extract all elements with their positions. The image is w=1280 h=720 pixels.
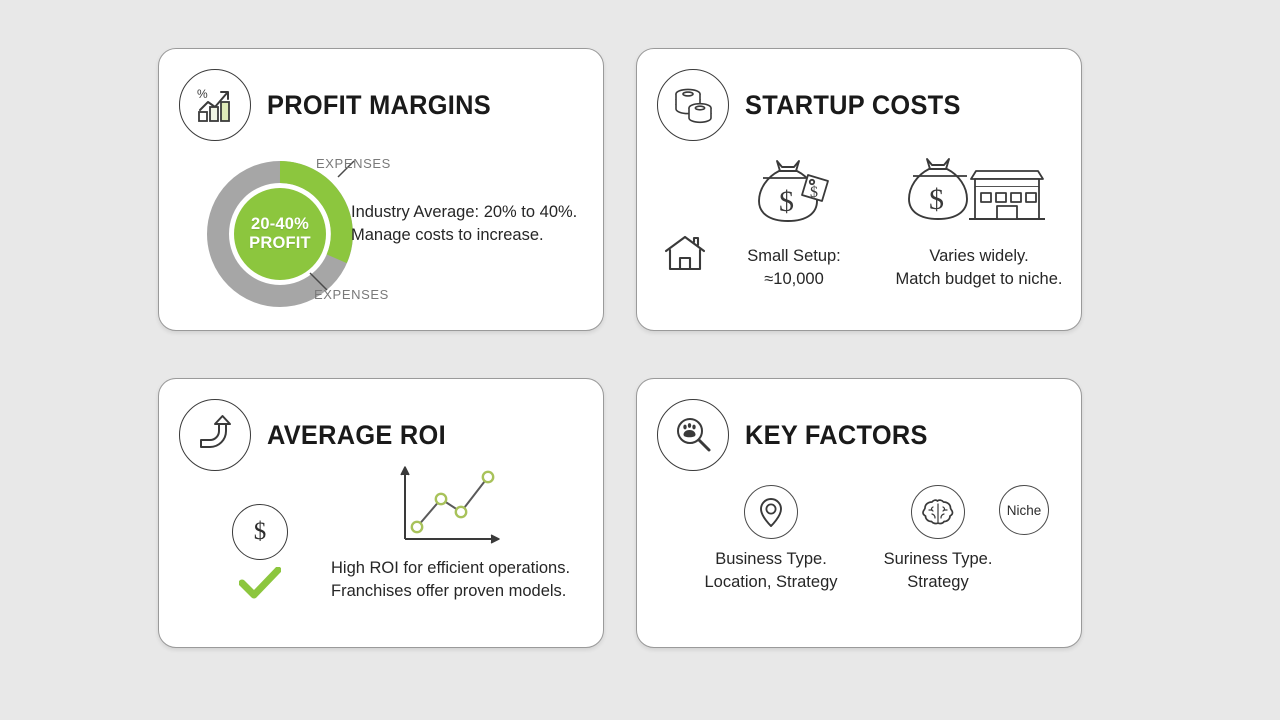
small-setup-line1: Small Setup:	[699, 245, 889, 268]
small-setup-caption: Small Setup: ≈10,000	[699, 245, 889, 291]
card-startup-costs: STARTUP COSTS $ $	[636, 48, 1082, 331]
stacked-coins-icon	[657, 69, 729, 141]
dollar-symbol: $	[254, 518, 267, 546]
niche-label: Niche	[1007, 503, 1042, 518]
profit-note-line2: Manage costs to increase.	[351, 224, 596, 247]
card-header: % PROFIT MARGINS	[179, 69, 505, 141]
card-header: KEY FACTORS	[657, 399, 939, 471]
small-setup-line2: ≈10,000	[699, 268, 889, 291]
card-key-factors: KEY FACTORS Business Type. Location, Str…	[636, 378, 1082, 648]
profit-note: Industry Average: 20% to 40%. Manage cos…	[351, 201, 596, 248]
house-icon	[663, 233, 707, 273]
dollar-circle-icon: $	[232, 504, 288, 560]
factor-business-type: Business Type. Location, Strategy	[665, 485, 877, 594]
svg-text:$: $	[779, 185, 794, 218]
card-average-roi: AVERAGE ROI $	[158, 378, 604, 648]
svg-text:$: $	[810, 184, 818, 201]
donut-callout-top: EXPENSES	[316, 156, 391, 171]
card-title: STARTUP COSTS	[745, 90, 961, 121]
varies-line1: Varies widely.	[879, 245, 1079, 268]
card-title: PROFIT MARGINS	[267, 90, 491, 121]
startup-cost-varies: $ Varies widely. Match	[879, 149, 1079, 291]
profit-note-line1: Industry Average: 20% to 40%.	[351, 201, 596, 224]
roi-note-line1: High ROI for efficient operations.	[331, 557, 591, 580]
roi-note: High ROI for efficient operations. Franc…	[331, 557, 591, 604]
money-bag-with-price-tag-icon: $ $	[699, 149, 889, 237]
card-title: KEY FACTORS	[745, 420, 928, 451]
infographic-canvas: % PROFIT MARGINS	[0, 0, 1280, 720]
percent-growth-chart-icon: %	[179, 69, 251, 141]
magnifier-paw-icon	[657, 399, 729, 471]
roi-line-chart	[393, 461, 509, 547]
card-title: AVERAGE ROI	[267, 420, 446, 451]
donut-callout-bottom: EXPENSES	[314, 287, 389, 302]
brain-icon	[911, 485, 965, 539]
curved-up-arrow-icon	[179, 399, 251, 471]
factor-niche: Niche	[978, 485, 1070, 535]
money-bag-and-storefront-icon: $	[879, 149, 1079, 237]
card-header: STARTUP COSTS	[657, 69, 974, 141]
svg-text:$: $	[929, 183, 944, 216]
card-profit-margins: % PROFIT MARGINS	[158, 48, 604, 331]
varies-caption: Varies widely. Match budget to niche.	[879, 245, 1079, 291]
location-pin-icon	[744, 485, 798, 539]
factor-business-caption: Business Type. Location, Strategy	[665, 548, 877, 594]
factor-brain-caption: Suriness Type. Strategy	[852, 548, 1024, 594]
startup-cost-small-setup: $ $ Small Setup: ≈10,000	[699, 149, 889, 291]
green-check-icon	[239, 567, 281, 599]
svg-text:%: %	[197, 87, 208, 101]
varies-line2: Match budget to niche.	[879, 268, 1079, 291]
roi-note-line2: Franchises offer proven models.	[331, 580, 591, 603]
niche-label-circle: Niche	[999, 485, 1049, 535]
